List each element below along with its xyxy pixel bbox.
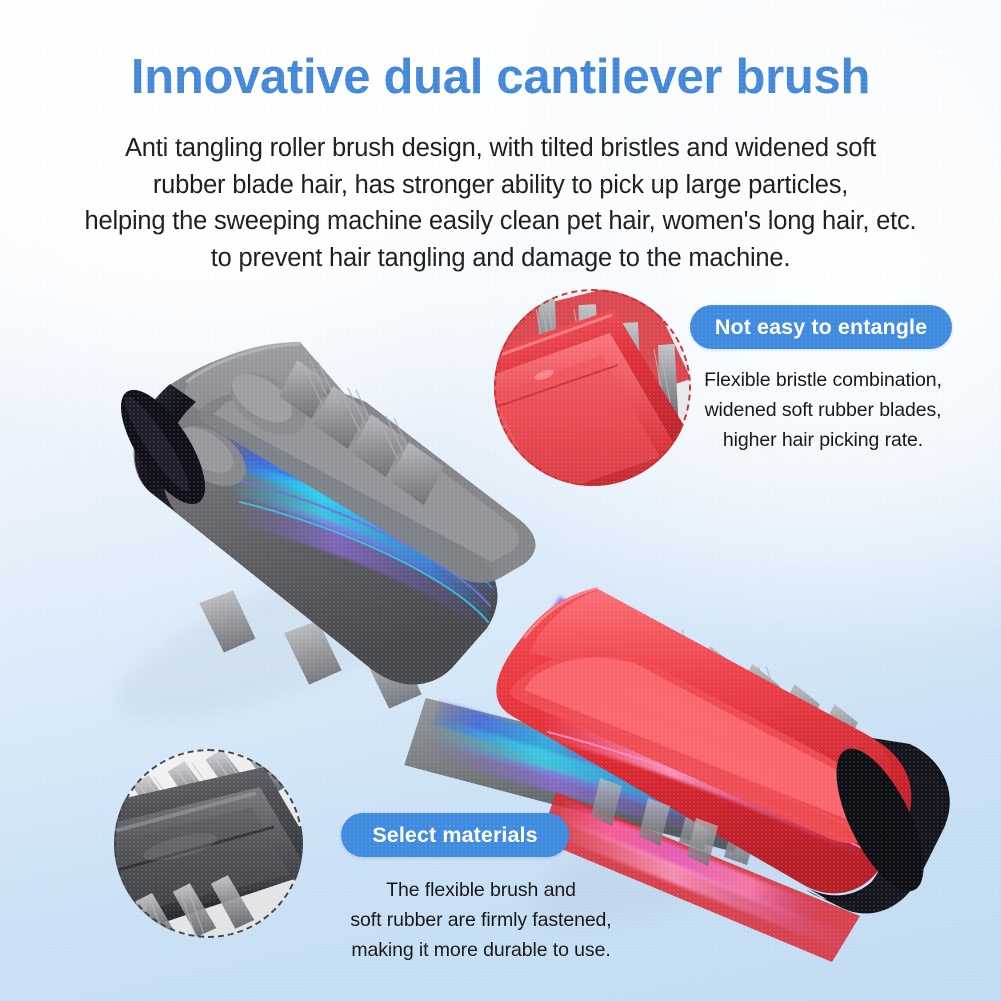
red-closeup-art	[494, 289, 691, 486]
badge-not-easy-to-entangle[interactable]: Not easy to entangle	[690, 305, 952, 349]
page-title: Innovative dual cantilever brush	[0, 52, 1001, 103]
intro-line-1: Anti tangling roller brush design, with …	[0, 130, 1001, 167]
caption-materials-line-1: The flexible brush and	[306, 875, 656, 905]
intro-paragraph: Anti tangling roller brush design, with …	[0, 130, 1001, 276]
caption-entangle-line-2: widened soft rubber blades,	[684, 395, 962, 425]
badge-select-materials[interactable]: Select materials	[341, 813, 569, 857]
caption-materials-line-3: making it more durable to use.	[306, 935, 656, 965]
red-roller-bristle-closeup	[494, 289, 691, 486]
gray-closeup-art	[114, 749, 303, 938]
caption-select-materials: The flexible brush and soft rubber are f…	[306, 875, 656, 965]
caption-materials-line-2: soft rubber are firmly fastened,	[306, 905, 656, 935]
caption-entangle-line-1: Flexible bristle combination,	[684, 365, 962, 395]
intro-line-4: to prevent hair tangling and damage to t…	[0, 240, 1001, 277]
caption-not-easy-to-entangle: Flexible bristle combination, widened so…	[684, 365, 962, 455]
caption-entangle-line-3: higher hair picking rate.	[684, 425, 962, 455]
gray-roller-rubber-closeup	[114, 749, 303, 938]
intro-line-2: rubber blade hair, has stronger ability …	[0, 167, 1001, 204]
product-feature-banner: Innovative dual cantilever brush Anti ta…	[0, 0, 1001, 1001]
intro-line-3: helping the sweeping machine easily clea…	[0, 203, 1001, 240]
